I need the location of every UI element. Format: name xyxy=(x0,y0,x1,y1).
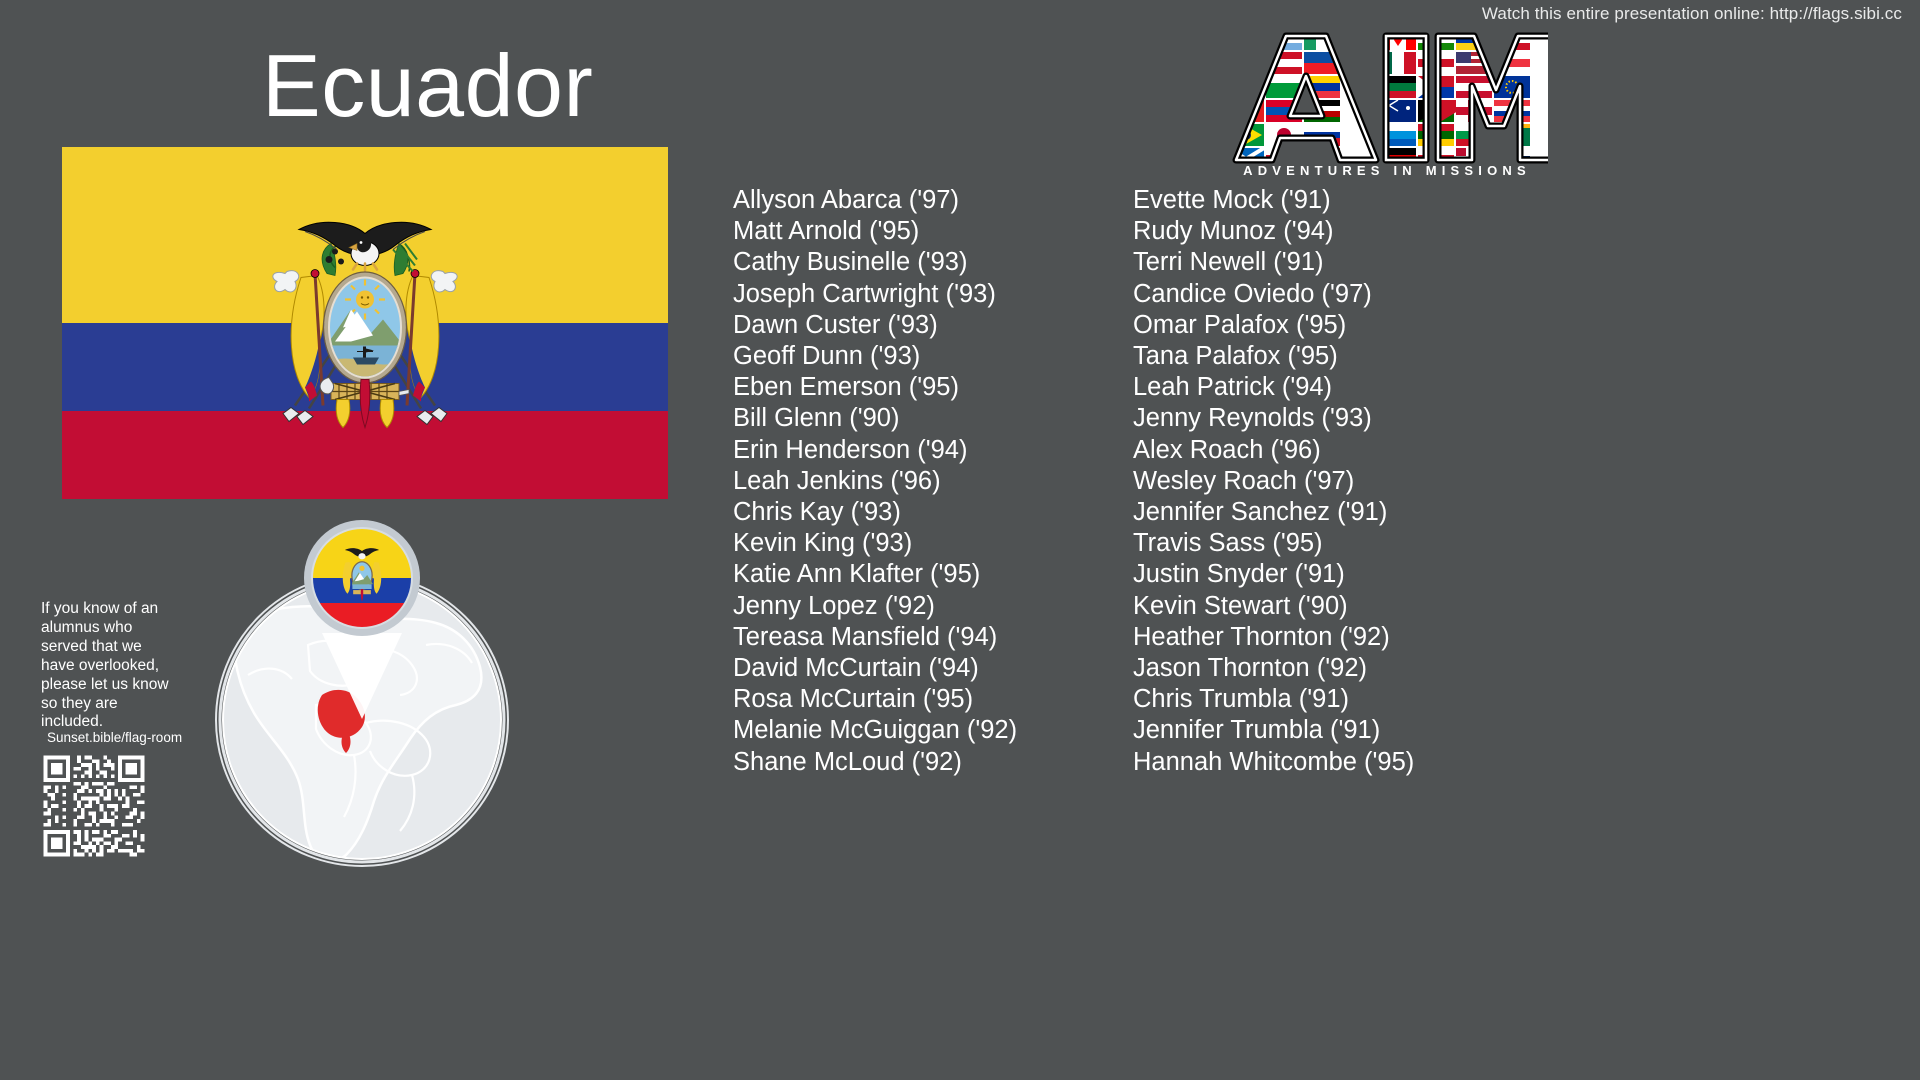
location-globe xyxy=(196,505,536,867)
aim-letter-a xyxy=(1236,36,1376,160)
alumni-name: Katie Ann Klafter ('95) xyxy=(733,559,1017,590)
alumni-name: Shane McLoud ('92) xyxy=(733,747,1017,778)
alumni-name: Wesley Roach ('97) xyxy=(1133,466,1414,497)
alumni-name: Travis Sass ('95) xyxy=(1133,528,1414,559)
condor xyxy=(299,222,431,270)
alumni-name: David McCurtain ('94) xyxy=(733,653,1017,684)
alumni-name: Chris Trumbla ('91) xyxy=(1133,684,1414,715)
alumni-name: Leah Jenkins ('96) xyxy=(733,466,1017,497)
alumni-name: Tereasa Mansfield ('94) xyxy=(733,622,1017,653)
presentation-url-text: Watch this entire presentation online: h… xyxy=(1482,4,1902,24)
alumni-name: Jennifer Trumbla ('91) xyxy=(1133,715,1414,746)
alumni-column-right: Evette Mock ('91)Rudy Munoz ('94)Terri N… xyxy=(1133,185,1414,778)
alumni-name: Tana Palafox ('95) xyxy=(1133,341,1414,372)
alumni-name: Geoff Dunn ('93) xyxy=(733,341,1017,372)
alumni-name: Kevin Stewart ('90) xyxy=(1133,591,1414,622)
ecuador-flag xyxy=(62,147,668,499)
alumni-name: Rudy Munoz ('94) xyxy=(1133,216,1414,247)
alumni-name: Joseph Cartwright ('93) xyxy=(733,279,1017,310)
alumni-name: Eben Emerson ('95) xyxy=(733,372,1017,403)
alumni-name: Erin Henderson ('94) xyxy=(733,435,1017,466)
alumni-name: Jenny Lopez ('92) xyxy=(733,591,1017,622)
alumni-name: Jennifer Sanchez ('91) xyxy=(1133,497,1414,528)
alumni-name: Alex Roach ('96) xyxy=(1133,435,1414,466)
alumni-name: Jason Thornton ('92) xyxy=(1133,653,1414,684)
alumnus-note-text: If you know of an alumnus who served tha… xyxy=(41,600,173,732)
alumni-name: Bill Glenn ('90) xyxy=(733,403,1017,434)
alumni-name: Jenny Reynolds ('93) xyxy=(1133,403,1414,434)
aim-letter-m xyxy=(1438,36,1548,160)
alumni-name: Matt Arnold ('95) xyxy=(733,216,1017,247)
alumni-name: Dawn Custer ('93) xyxy=(733,310,1017,341)
alumni-name: Allyson Abarca ('97) xyxy=(733,185,1017,216)
alumni-name: Leah Patrick ('94) xyxy=(1133,372,1414,403)
alumni-name: Candice Oviedo ('97) xyxy=(1133,279,1414,310)
aim-tagline: ADVENTURES IN MISSIONS xyxy=(1202,163,1572,178)
alumni-name: Heather Thornton ('92) xyxy=(1133,622,1414,653)
alumni-name: Terri Newell ('91) xyxy=(1133,247,1414,278)
aim-letter-i xyxy=(1386,36,1426,160)
alumni-column-left: Allyson Abarca ('97)Matt Arnold ('95)Cat… xyxy=(733,185,1017,778)
coat-of-arms-icon xyxy=(265,216,465,431)
alumni-name: Kevin King ('93) xyxy=(733,528,1017,559)
alumni-name: Justin Snyder ('91) xyxy=(1133,559,1414,590)
alumni-name: Evette Mock ('91) xyxy=(1133,185,1414,216)
qr-code[interactable] xyxy=(40,752,148,860)
alumni-name: Rosa McCurtain ('95) xyxy=(733,684,1017,715)
alumni-name: Cathy Businelle ('93) xyxy=(733,247,1017,278)
alumni-name: Melanie McGuiggan ('92) xyxy=(733,715,1017,746)
alumni-name: Hannah Whitcombe ('95) xyxy=(1133,747,1414,778)
page-title: Ecuador xyxy=(262,40,593,132)
alumni-name: Omar Palafox ('95) xyxy=(1133,310,1414,341)
flag-room-link[interactable]: Sunset.bible/flag-room xyxy=(47,730,182,745)
alumni-name: Chris Kay ('93) xyxy=(733,497,1017,528)
aim-logo xyxy=(1228,28,1548,178)
